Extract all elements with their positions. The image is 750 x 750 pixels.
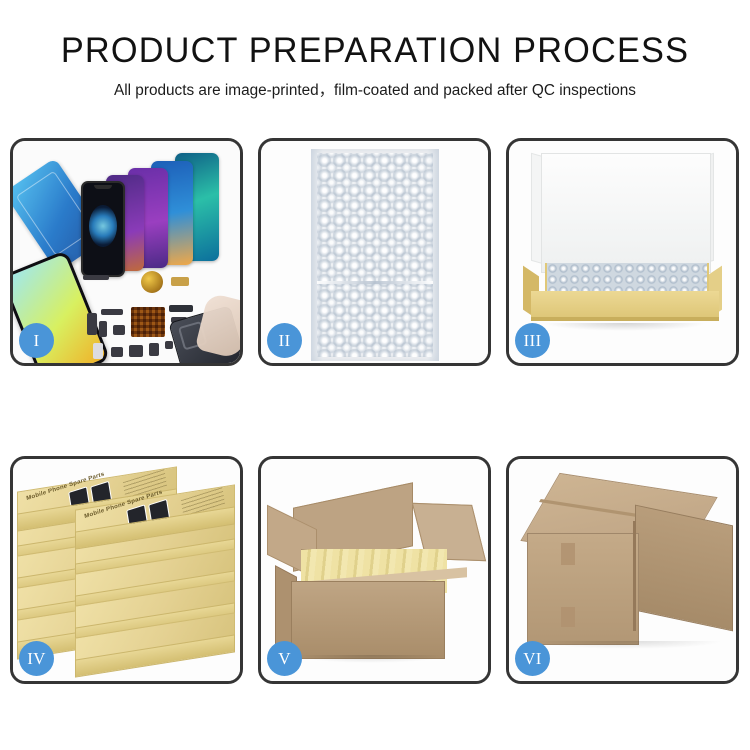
process-step-panel-6[interactable]: VI — [506, 456, 739, 684]
carton-tape-lower — [561, 607, 575, 627]
step-badge-5: V — [267, 641, 302, 676]
bubble-pattern-offset — [317, 153, 433, 357]
stacked-box-labeled: Mobile Phone Spare Parts — [75, 497, 233, 533]
process-step-panel-3[interactable]: III — [506, 138, 739, 366]
step-badge-2: II — [267, 323, 302, 358]
wrap-edge-left — [311, 149, 323, 361]
phone-fan-group — [79, 149, 239, 274]
spare-parts-group — [83, 269, 240, 363]
carton-tape-upper — [561, 543, 575, 565]
phone-icon — [81, 181, 125, 277]
step-badge-4: IV — [19, 641, 54, 676]
bubble-wrap-sheet — [311, 149, 439, 361]
carton-corner-edge — [633, 521, 636, 631]
carton-front-panel — [291, 581, 445, 659]
speaker-coil-part — [141, 271, 163, 293]
process-step-panel-1[interactable]: I — [10, 138, 243, 366]
process-step-panel-2[interactable]: II — [258, 138, 491, 366]
drop-shadow — [533, 641, 723, 649]
process-step-panel-4[interactable]: Mobile Phone Spare Parts — [10, 456, 243, 684]
hand-icon — [195, 292, 240, 359]
process-step-grid: I II III — [10, 138, 740, 684]
step-badge-3: III — [515, 323, 550, 358]
page-header: PRODUCT PREPARATION PROCESS All products… — [0, 0, 750, 102]
stacked-box — [75, 625, 233, 661]
process-step-panel-5[interactable]: V — [258, 456, 491, 684]
step-badge-6: VI — [515, 641, 550, 676]
carton-right-panel — [635, 505, 733, 632]
chip-board-part — [131, 307, 165, 337]
wrap-edge-right — [427, 149, 439, 361]
drop-shadow — [295, 655, 447, 663]
drop-shadow — [543, 323, 707, 331]
box-lid — [541, 153, 711, 273]
step-badge-1: I — [19, 323, 54, 358]
box-front-panel — [531, 291, 719, 321]
page-title: PRODUCT PREPARATION PROCESS — [8, 30, 743, 72]
carton-left-panel — [527, 533, 639, 645]
box-inner-bubble-contents — [545, 263, 709, 293]
page-subtitle: All products are image-printed，film-coat… — [4, 80, 747, 102]
box-stack: Mobile Phone Spare Parts — [17, 477, 240, 673]
wrap-seam — [317, 281, 433, 284]
